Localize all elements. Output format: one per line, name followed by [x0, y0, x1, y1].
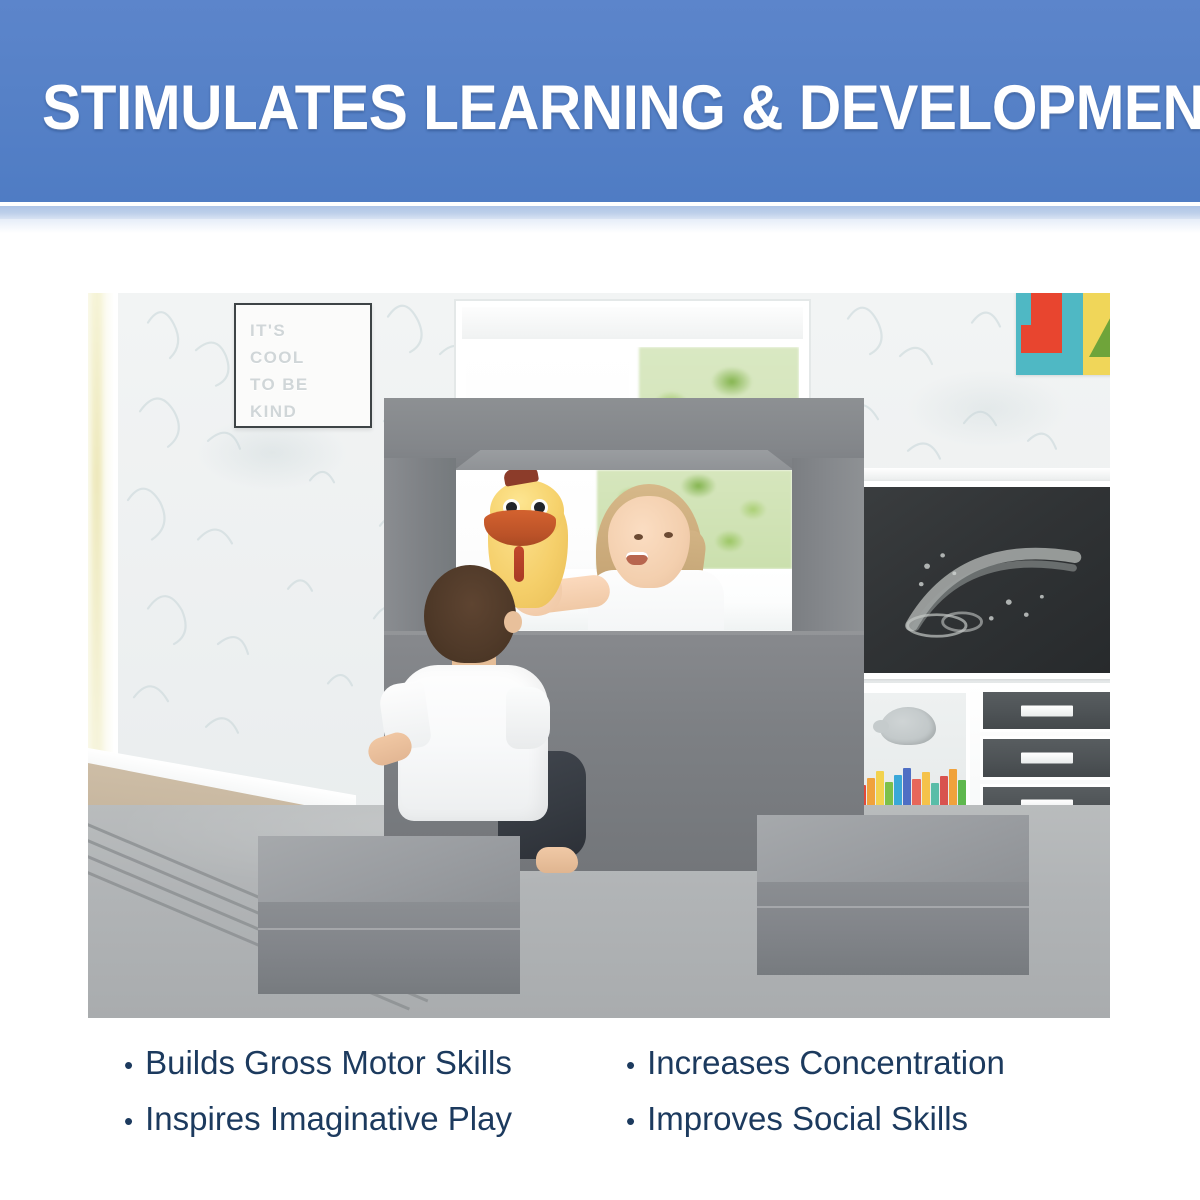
boy-head	[424, 565, 516, 663]
girl-mouth	[626, 552, 648, 565]
girl-child	[574, 478, 744, 630]
boy-foot	[536, 847, 578, 873]
chalk-rainbow-drawing	[894, 532, 1089, 640]
benefit-label: Improves Social Skills	[647, 1092, 968, 1146]
framed-poster: IT'S COOL TO BE KIND	[234, 303, 372, 428]
bullet-dot-icon: •	[124, 1038, 133, 1092]
benefit-label: Builds Gross Motor Skills	[145, 1036, 512, 1090]
boy-ear	[504, 611, 522, 633]
bullet-dot-icon: •	[124, 1094, 133, 1148]
benefit-item: •Improves Social Skills	[626, 1092, 1108, 1148]
chalkboard-frame	[852, 481, 1110, 679]
poster-line-4: KIND	[250, 398, 360, 425]
boy-sleeve-right	[506, 687, 550, 749]
storage-bin	[980, 689, 1110, 732]
chalkboard	[858, 487, 1110, 673]
benefits-column-right: •Increases Concentration•Improves Social…	[608, 1036, 1108, 1148]
foam-block-right	[757, 815, 1029, 975]
foam-block-front-face	[757, 882, 1029, 975]
benefits-column-left: •Builds Gross Motor Skills•Inspires Imag…	[88, 1036, 608, 1148]
girl-eye-right	[664, 532, 673, 538]
header-fade-divider	[0, 219, 1200, 233]
header-banner: STIMULATES LEARNING & DEVELOPMENT	[0, 0, 1200, 202]
art-panel-teal	[1016, 293, 1083, 375]
poster-line-2: COOL	[250, 344, 360, 371]
window-light-glow	[92, 293, 102, 827]
poster-line-3: TO BE	[250, 371, 360, 398]
art-panel-yellow	[1083, 293, 1110, 375]
storage-bin	[980, 736, 1110, 779]
benefit-item: •Inspires Imaginative Play	[124, 1092, 608, 1148]
product-lifestyle-photo: IT'S COOL TO BE KIND	[88, 293, 1110, 1018]
foam-block-seam	[258, 928, 520, 930]
benefits-list: •Builds Gross Motor Skills•Inspires Imag…	[88, 1036, 1112, 1148]
benefit-item: •Builds Gross Motor Skills	[124, 1036, 608, 1092]
foam-block-front-face	[258, 902, 520, 994]
foam-block-left	[258, 836, 520, 994]
window-top-sash	[462, 307, 803, 343]
poster-line-1: IT'S	[250, 317, 360, 344]
foam-block-top-face	[757, 815, 1029, 889]
product-feature-card: STIMULATES LEARNING & DEVELOPMENT	[0, 0, 1200, 1200]
abstract-wall-art	[1016, 293, 1110, 375]
girl-face	[608, 496, 690, 588]
shelf-wall-trim	[830, 468, 1110, 482]
theater-right-post	[792, 458, 864, 633]
foam-block-seam	[757, 906, 1029, 908]
benefit-label: Increases Concentration	[647, 1036, 1005, 1090]
bullet-dot-icon: •	[626, 1094, 635, 1148]
header-underline-accent	[0, 206, 1200, 219]
benefit-item: •Increases Concentration	[626, 1036, 1108, 1092]
benefit-label: Inspires Imaginative Play	[145, 1092, 512, 1146]
page-title: STIMULATES LEARNING & DEVELOPMENT	[42, 76, 1158, 140]
foam-block-top-face	[258, 836, 520, 909]
girl-eye-left	[634, 534, 643, 540]
piggy-bank	[880, 707, 936, 745]
bullet-dot-icon: •	[626, 1038, 635, 1092]
